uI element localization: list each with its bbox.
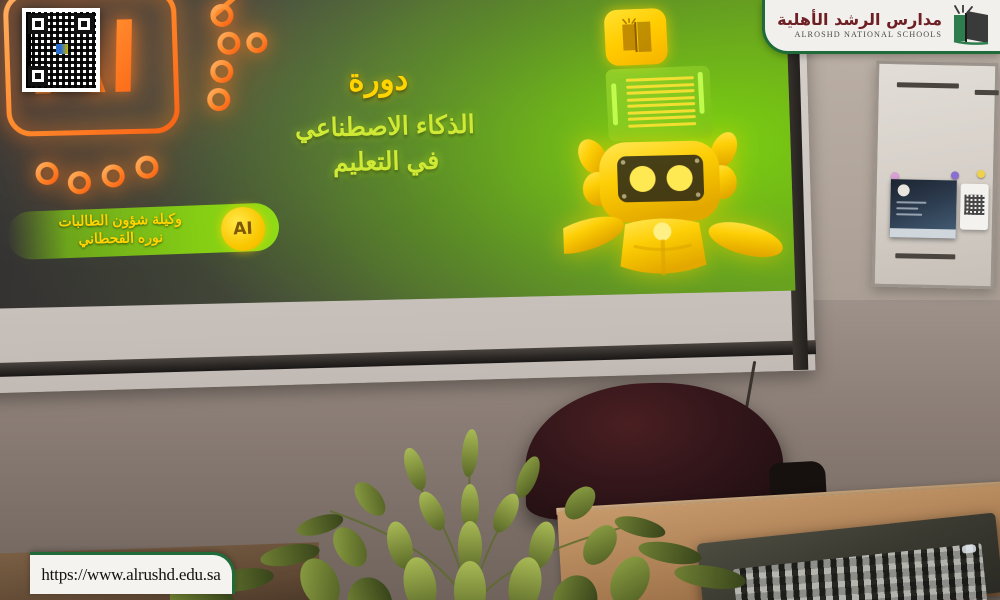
school-logo-text: مدارس الرشد الأهلية ALROSHD NATIONAL SCH…	[777, 12, 942, 39]
notice-board	[872, 61, 999, 290]
screenshot-root: AI دورة الذكاء الاصطناعي في التعليم وكيل…	[0, 0, 1000, 600]
robot-mascot	[559, 111, 784, 281]
slide-subtitle: الذكاء الاصطناعي في التعليم	[294, 108, 476, 181]
poster-footer	[890, 228, 956, 238]
laptop-indicator-light	[962, 544, 977, 553]
presenter-badge: AI	[220, 206, 266, 252]
pin	[951, 171, 959, 179]
school-name-english: ALROSHD NATIONAL SCHOOLS	[777, 31, 942, 40]
qr-code-image	[26, 12, 96, 88]
poster-logo	[898, 184, 910, 196]
slide-title: دورة	[348, 61, 409, 98]
pin	[977, 170, 985, 178]
qr-center-mark	[56, 44, 68, 54]
notice-strip	[897, 82, 959, 88]
qr-code-badge[interactable]	[22, 8, 100, 92]
slide-subtitle-line2: في التعليم	[296, 142, 477, 181]
website-url-badge[interactable]: https://www.alrushd.edu.sa	[30, 552, 235, 594]
projected-slide: AI دورة الذكاء الاصطناعي في التعليم وكيل…	[0, 0, 795, 309]
presenter-badge-label: AI	[220, 206, 266, 252]
notice-poster	[890, 179, 957, 238]
notice-qr-code	[960, 184, 989, 231]
school-name-arabic: مدارس الرشد الأهلية	[777, 12, 942, 29]
notice-strip	[975, 90, 999, 96]
qr-finder-bottom-left	[28, 66, 48, 86]
slide-subtitle-line1: الذكاء الاصطناعي	[295, 111, 476, 143]
info-card-bar-right	[698, 72, 705, 114]
presenter-text: وكيلة شؤون الطالبات نوره القحطاني	[12, 209, 228, 249]
qr-finder-top-left	[28, 14, 48, 34]
open-book-icon	[950, 5, 992, 47]
school-logo-badge[interactable]: مدارس الرشد الأهلية ALROSHD NATIONAL SCH…	[762, 0, 1000, 54]
notice-strip	[895, 253, 955, 259]
website-url-text: https://www.alrushd.edu.sa	[41, 565, 220, 585]
book-icon	[604, 8, 669, 66]
potted-plant	[170, 395, 770, 600]
qr-finder-top-right	[74, 14, 94, 34]
